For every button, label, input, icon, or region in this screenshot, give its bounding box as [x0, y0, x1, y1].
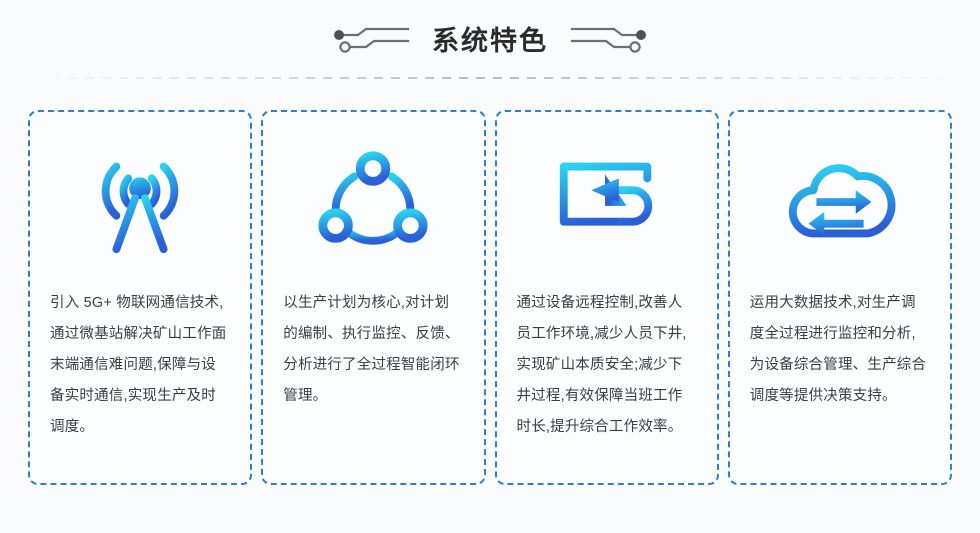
title-row: 系统特色 [0, 24, 980, 58]
circuit-node-right-icon [570, 24, 648, 58]
feature-card-list: 引入 5G+ 物联网通信技术,通过微基站解决矿山工作面末端通信难问题,保障与设备… [28, 110, 952, 485]
circuit-node-left-icon [332, 24, 410, 58]
monitor-remote-control-icon [548, 146, 666, 258]
feature-card-text: 引入 5G+ 物联网通信技术,通过微基站解决矿山工作面末端通信难问题,保障与设备… [50, 288, 230, 443]
network-share-nodes-icon [314, 146, 432, 258]
feature-card[interactable]: 运用大数据技术,对生产调度全过程进行监控和分析,为设备综合管理、生产综合调度等提… [728, 110, 952, 485]
page-title: 系统特色 [428, 24, 552, 58]
feature-card[interactable]: 引入 5G+ 物联网通信技术,通过微基站解决矿山工作面末端通信难问题,保障与设备… [28, 110, 252, 485]
feature-card-text: 运用大数据技术,对生产调度全过程进行监控和分析,为设备综合管理、生产综合调度等提… [750, 288, 930, 412]
feature-card[interactable]: 以生产计划为核心,对计划的编制、执行监控、反馈、分析进行了全过程智能闭环管理。 [261, 110, 485, 485]
feature-card-text: 以生产计划为核心,对计划的编制、执行监控、反馈、分析进行了全过程智能闭环管理。 [283, 288, 463, 412]
cloud-data-transfer-icon [781, 146, 899, 258]
section-header: 系统特色 [0, 0, 980, 100]
feature-card[interactable]: 通过设备远程控制,改善人员工作环境,减少人员下井,实现矿山本质安全;减少下井过程… [495, 110, 719, 485]
cell-tower-signal-icon [81, 146, 199, 258]
feature-card-text: 通过设备远程控制,改善人员工作环境,减少人员下井,实现矿山本质安全;减少下井过程… [517, 288, 697, 443]
dashed-divider [0, 77, 980, 79]
